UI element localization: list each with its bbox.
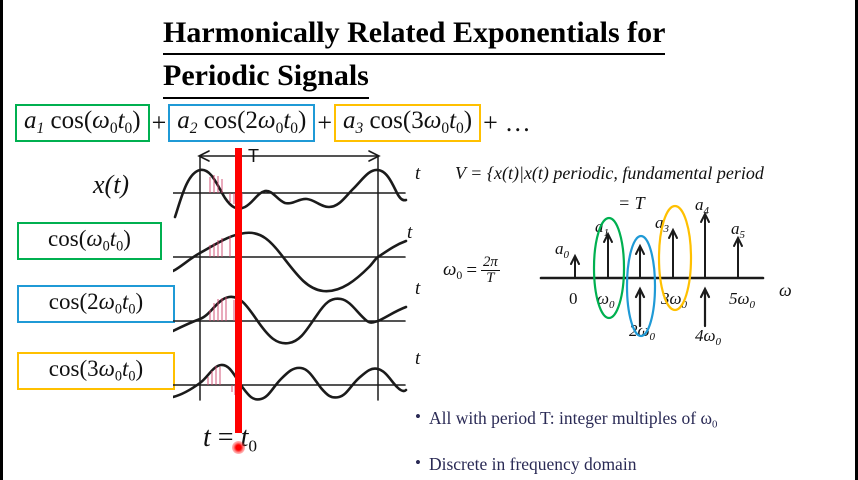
spectrum-label-a0: a0 [555, 239, 570, 261]
equation-term-1: a1 cos(ω0t0) [24, 107, 141, 138]
slide-canvas: Harmonically Related Exponentials for Pe… [3, 0, 855, 480]
equation-term-3: a3 cos(3ω0t0) [343, 107, 472, 138]
equation-plus-2: + [315, 108, 334, 138]
time-axis-label-4: t [415, 348, 420, 370]
time-axis-label-2: t [407, 222, 412, 244]
spectrum-stem-a3 [669, 230, 677, 278]
spectrum-tick-4w0: 4ω0 [695, 326, 722, 346]
title-line-2: Periodic Signals [163, 57, 369, 98]
spectrum-stem-a2 [636, 246, 644, 278]
spectrum-tick-5w0: 5ω0 [729, 289, 756, 311]
title-line-1: Harmonically Related Exponentials for [163, 14, 665, 55]
spectrum-tick-0: 0 [569, 289, 578, 308]
waveform-figure: T [173, 145, 413, 405]
omega0-fraction: 2π T [481, 255, 500, 286]
t-equals-t0-label: t = t0 [203, 422, 257, 457]
equation-term-2: a2 cos(2ω0t0) [177, 107, 306, 138]
frequency-spectrum-chart: a0 a1 a3 a4 a5 0 ω0 2ω0 3ω0 4ω0 5ω0 ω [533, 196, 853, 346]
pointer-4omega0 [701, 289, 709, 326]
waveform-harmonic-1 [173, 233, 406, 291]
bullet-dot: • [415, 408, 421, 425]
spectrum-stem-a4 [701, 214, 709, 278]
spectrum-stem-a5 [734, 238, 742, 278]
time-axis-label-3: t [415, 278, 420, 300]
bullet-item-2: • Discrete in frequency domain [415, 454, 845, 475]
hatch-axis-3 [210, 297, 234, 321]
spectrum-stem-a0 [571, 256, 579, 278]
equation-term-1-box[interactable]: a1 cos(ω0t0) [15, 104, 150, 142]
bullet-dot: • [415, 454, 421, 471]
equation-term-2-box[interactable]: a2 cos(2ω0t0) [168, 104, 315, 142]
cos-label-harmonic-3[interactable]: cos(3ω0t0) [17, 352, 175, 390]
spectrum-svg: a0 a1 a3 a4 a5 0 ω0 2ω0 3ω0 4ω0 5ω0 ω [533, 196, 853, 346]
equation-ellipsis: … [500, 108, 531, 138]
equation-plus-1: + [150, 108, 169, 138]
cos-label-harmonic-1[interactable]: cos(ω0t0) [17, 222, 162, 260]
fourier-series-equation: a1 cos(ω0t0) + a2 cos(2ω0t0) + a3 cos(3ω… [15, 100, 531, 146]
t0-marker-line [235, 148, 242, 433]
equation-term-3-box[interactable]: a3 cos(3ω0t0) [334, 104, 481, 142]
page-title: Harmonically Related Exponentials for Pe… [163, 14, 763, 99]
time-axis-label-1: t [415, 163, 420, 185]
spectrum-label-a5: a5 [731, 219, 746, 241]
period-label-T: T [248, 146, 259, 167]
spectrum-stem-a1 [604, 234, 612, 278]
omega0-definition: ω0 = 2π T [443, 255, 500, 286]
signal-label-xt: x(t) [93, 170, 129, 200]
bullet-item-1: • All with period T: integer multiples o… [415, 408, 845, 430]
waveform-svg [173, 145, 413, 405]
vector-space-definition: V = {x(t)|x(t) periodic, fundamental per… [455, 163, 764, 184]
waveform-harmonic-2 [173, 297, 406, 343]
bullet-text-1: All with period T: integer multiples of … [429, 408, 717, 430]
period-arrow [199, 151, 379, 161]
laser-pointer-dot [232, 441, 245, 454]
spectrum-label-a4: a4 [695, 196, 710, 217]
spectrum-axis-label-omega: ω [779, 280, 792, 300]
cos-label-harmonic-2[interactable]: cos(2ω0t0) [17, 285, 175, 323]
bullet-text-2: Discrete in frequency domain [429, 454, 637, 475]
bullet-list: • All with period T: integer multiples o… [415, 408, 845, 480]
equation-plus-3: + [481, 108, 500, 138]
